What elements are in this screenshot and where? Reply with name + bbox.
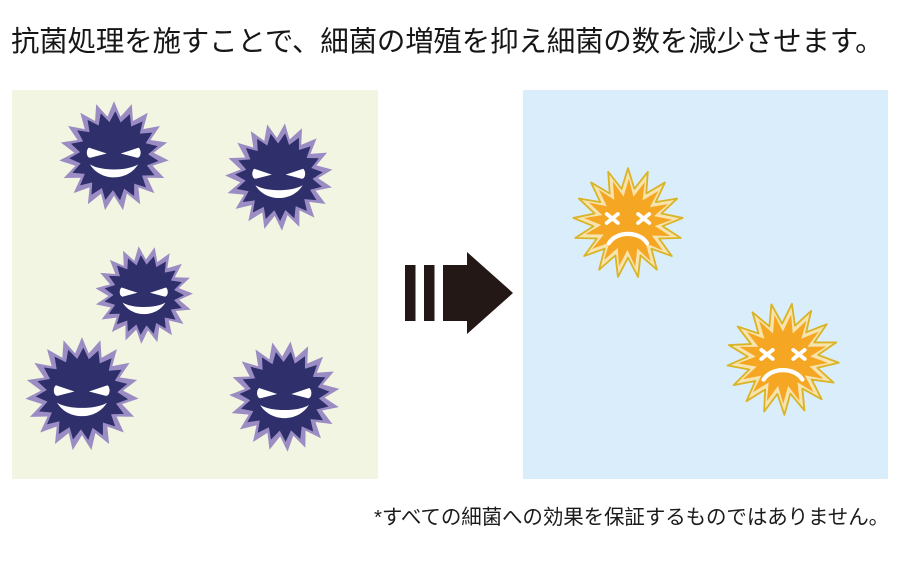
footnote-disclaimer: *すべての細菌への効果を保証するものではありません。: [374, 503, 894, 533]
dead-germ-icon: [726, 302, 840, 416]
angry-germ-icon: [24, 336, 140, 452]
angry-germ-icon: [224, 122, 334, 232]
page-title: 抗菌処理を施すことで、細菌の増殖を抑え細菌の数を減少させます。: [11, 20, 891, 64]
angry-germ-icon: [228, 340, 341, 453]
arrow-head-shape: [443, 252, 513, 334]
arrow-speed-bar-1: [405, 265, 416, 321]
antibacterial-infographic: 抗菌処理を施すことで、細菌の増殖を抑え細菌の数を減少させます。: [0, 0, 900, 562]
angry-germ-icon: [94, 245, 194, 345]
angry-germ-icon: [58, 100, 170, 212]
arrow-speed-bar-2: [424, 265, 435, 321]
panel-after-treatment: [523, 90, 888, 479]
dead-germ-icon: [572, 167, 684, 279]
arrow-right-icon: [405, 252, 513, 334]
